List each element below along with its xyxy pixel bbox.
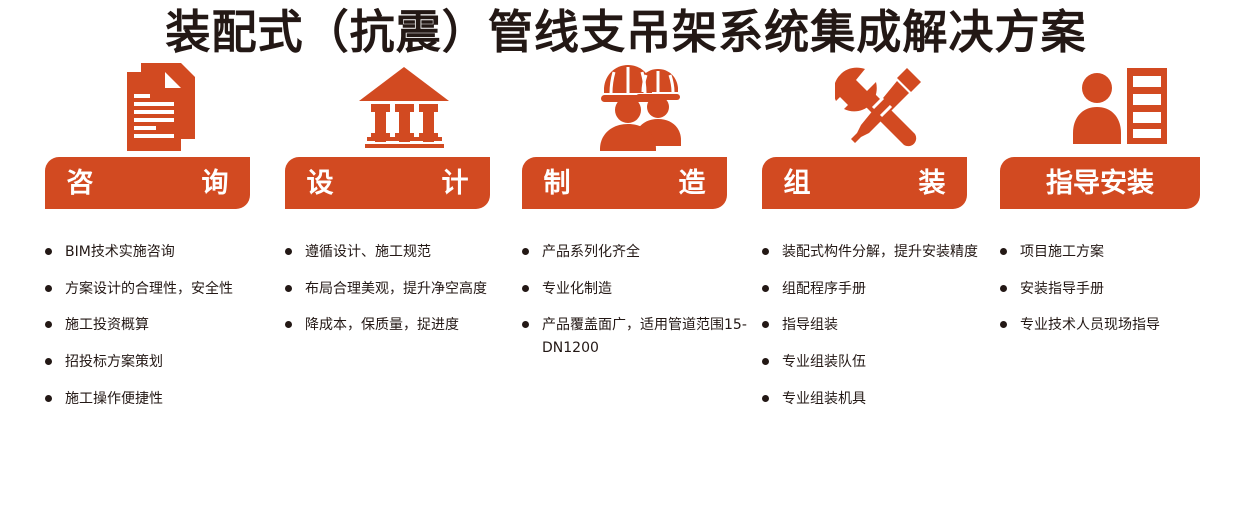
service-column-assembly: 组 装 装配式构件分解，提升安装精度 组配程序手册 指导组装 专业组装队伍 专业… xyxy=(762,62,1000,426)
service-column-installation-guidance: 指导安装 项目施工方案 安装指导手册 专业技术人员现场指导 xyxy=(1000,62,1240,353)
list-item-label: 招投标方案策划 xyxy=(65,351,163,374)
list-item: 项目施工方案 xyxy=(1000,241,1240,264)
service-pill-label: 咨 询 xyxy=(49,170,247,197)
service-pill-manufacture[interactable]: 制 造 xyxy=(522,157,727,209)
service-bullet-list-manufacture: 产品系列化齐全 专业化制造 产品覆盖面广，适用管道范围15-DN1200 xyxy=(522,241,762,360)
list-item-label: 安装指导手册 xyxy=(1020,278,1104,301)
bullet-dot-icon xyxy=(285,321,292,328)
list-item: 专业组装队伍 xyxy=(762,351,1000,374)
list-item-label: 方案设计的合理性，安全性 xyxy=(65,278,233,301)
service-pill-label: 组 装 xyxy=(766,170,964,197)
list-item-label: 施工操作便捷性 xyxy=(65,388,163,411)
wrench-screwdriver-icon xyxy=(762,62,1000,157)
service-pill-assembly[interactable]: 组 装 xyxy=(762,157,967,209)
bullet-dot-icon xyxy=(285,248,292,255)
bullet-dot-icon xyxy=(762,358,769,365)
service-pill-design[interactable]: 设 计 xyxy=(285,157,490,209)
list-item: 安装指导手册 xyxy=(1000,278,1240,301)
bullet-dot-icon xyxy=(1000,285,1007,292)
bullet-dot-icon xyxy=(762,395,769,402)
service-column-manufacture: 制 造 产品系列化齐全 专业化制造 产品覆盖面广，适用管道范围15-DN1200 xyxy=(522,62,762,376)
service-bullet-list-consult: BIM技术实施咨询 方案设计的合理性，安全性 施工投资概算 招投标方案策划 施工… xyxy=(45,241,285,410)
service-pill-label: 设 计 xyxy=(289,170,487,197)
list-item: 装配式构件分解，提升安装精度 xyxy=(762,241,1000,264)
bullet-dot-icon xyxy=(45,358,52,365)
list-item: 施工投资概算 xyxy=(45,314,285,337)
service-pill-label: 制 造 xyxy=(526,170,724,197)
list-item: 产品覆盖面广，适用管道范围15-DN1200 xyxy=(522,314,762,359)
bullet-dot-icon xyxy=(1000,321,1007,328)
list-item-label: 专业化制造 xyxy=(542,278,612,301)
list-item: 布局合理美观，提升净空高度 xyxy=(285,278,522,301)
list-item: 降成本，保质量，捉进度 xyxy=(285,314,522,337)
list-item-label: 布局合理美观，提升净空高度 xyxy=(305,278,487,301)
bullet-dot-icon xyxy=(762,285,769,292)
list-item: 专业组装机具 xyxy=(762,388,1000,411)
service-column-consult: 咨 询 BIM技术实施咨询 方案设计的合理性，安全性 施工投资概算 招投标方案策… xyxy=(45,62,285,426)
list-item: 方案设计的合理性，安全性 xyxy=(45,278,285,301)
page-title: 装配式（抗震）管线支吊架系统集成解决方案 xyxy=(165,9,1086,55)
bullet-dot-icon xyxy=(45,285,52,292)
list-item-label: 降成本，保质量，捉进度 xyxy=(305,314,459,337)
service-pill-consult[interactable]: 咨 询 xyxy=(45,157,250,209)
list-item: 指导组装 xyxy=(762,314,1000,337)
bullet-dot-icon xyxy=(45,395,52,402)
list-item-label: 专业组装机具 xyxy=(782,388,866,411)
list-item-label: 装配式构件分解，提升安装精度 xyxy=(782,241,978,264)
bullet-dot-icon xyxy=(522,285,529,292)
list-item: 专业化制造 xyxy=(522,278,762,301)
list-item-label: 项目施工方案 xyxy=(1020,241,1104,264)
list-item-label: 组配程序手册 xyxy=(782,278,866,301)
list-item: 专业技术人员现场指导 xyxy=(1000,314,1240,337)
bullet-dot-icon xyxy=(762,248,769,255)
list-item: 遵循设计、施工规范 xyxy=(285,241,522,264)
list-item-label: 遵循设计、施工规范 xyxy=(305,241,431,264)
bullet-dot-icon xyxy=(522,248,529,255)
list-item-label: 施工投资概算 xyxy=(65,314,149,337)
list-item-label: 专业组装队伍 xyxy=(782,351,866,374)
list-item: BIM技术实施咨询 xyxy=(45,241,285,264)
service-bullet-list-assembly: 装配式构件分解，提升安装精度 组配程序手册 指导组装 专业组装队伍 专业组装机具 xyxy=(762,241,1000,410)
bullet-dot-icon xyxy=(285,285,292,292)
bullet-dot-icon xyxy=(762,321,769,328)
list-item: 组配程序手册 xyxy=(762,278,1000,301)
classical-building-icon xyxy=(285,62,522,157)
bullet-dot-icon xyxy=(45,248,52,255)
service-pill-label: 指导安装 xyxy=(1046,170,1154,197)
list-item-label: BIM技术实施咨询 xyxy=(65,241,175,264)
list-item-label: 指导组装 xyxy=(782,314,838,337)
service-pill-installation-guidance[interactable]: 指导安装 xyxy=(1000,157,1200,209)
service-columns: 咨 询 BIM技术实施咨询 方案设计的合理性，安全性 施工投资概算 招投标方案策… xyxy=(0,62,1252,426)
list-item: 产品系列化齐全 xyxy=(522,241,762,264)
person-checklist-icon xyxy=(1000,62,1240,157)
list-item: 施工操作便捷性 xyxy=(45,388,285,411)
list-item: 招投标方案策划 xyxy=(45,351,285,374)
list-item-label: 产品覆盖面广，适用管道范围15-DN1200 xyxy=(542,314,747,359)
bullet-dot-icon xyxy=(45,321,52,328)
list-item-label: 专业技术人员现场指导 xyxy=(1020,314,1160,337)
service-bullet-list-installation-guidance: 项目施工方案 安装指导手册 专业技术人员现场指导 xyxy=(1000,241,1240,337)
service-column-design: 设 计 遵循设计、施工规范 布局合理美观，提升净空高度 降成本，保质量，捉进度 xyxy=(285,62,522,353)
list-item-label: 产品系列化齐全 xyxy=(542,241,640,264)
workers-helmet-icon xyxy=(522,62,762,157)
bullet-dot-icon xyxy=(1000,248,1007,255)
document-stack-icon xyxy=(45,62,285,157)
page-title-bar: 装配式（抗震）管线支吊架系统集成解决方案 xyxy=(0,0,1252,62)
bullet-dot-icon xyxy=(522,321,529,328)
service-bullet-list-design: 遵循设计、施工规范 布局合理美观，提升净空高度 降成本，保质量，捉进度 xyxy=(285,241,522,337)
